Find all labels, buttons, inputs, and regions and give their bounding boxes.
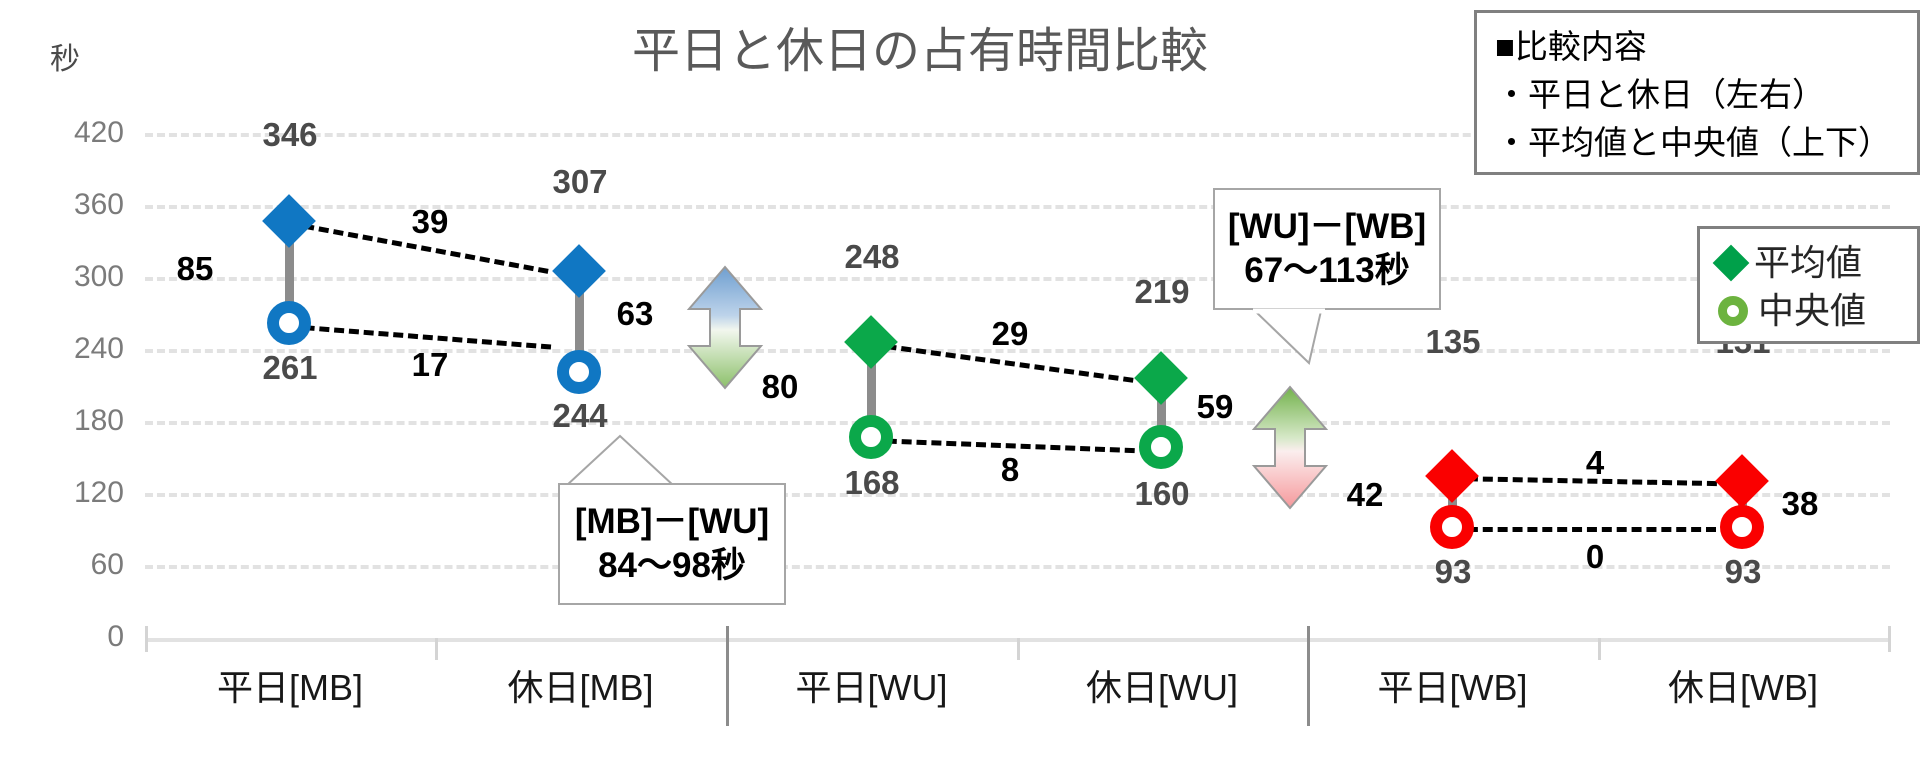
value-label-median-mb-holiday: 244: [480, 399, 680, 432]
info-box-line-2: ・平均値と中央値（上下）: [1495, 119, 1899, 167]
value-label-median-mb-weekday: 261: [190, 351, 390, 384]
delta-label-mb-median: 17: [385, 348, 475, 381]
x-category-5: 休日[WB]: [1598, 668, 1888, 708]
legend-label-mean: 平均値: [1754, 243, 1862, 283]
x-category-4: 平日[WB]: [1307, 668, 1598, 708]
x-tick-start: [145, 626, 148, 652]
connector-wb-median: [1453, 527, 1716, 532]
delta-label-wu-mean: 29: [965, 317, 1055, 350]
y-tick-420: 420: [28, 118, 124, 148]
legend-box: 平均値 中央値: [1697, 226, 1920, 344]
mean-marker-mb-holiday[interactable]: [552, 244, 606, 298]
y-tick-0: 0: [28, 622, 124, 652]
value-label-mean-mb-holiday: 307: [480, 165, 680, 198]
callout-wu-wb-line1: [WU]－[WB]: [1215, 208, 1439, 246]
callout-tail-wu-wb: [1213, 307, 1473, 367]
delta-label-wu-median: 8: [965, 453, 1055, 486]
x-tick-5: [1598, 638, 1601, 660]
gridline-180: [145, 421, 1890, 425]
value-label-mean-wu-weekday: 248: [772, 240, 972, 273]
y-tick-240: 240: [28, 334, 124, 364]
gap-label-wu-holiday: 59: [1170, 390, 1260, 423]
comparison-arrow-wu-wb-icon: [1250, 385, 1330, 510]
median-marker-mb-weekday[interactable]: [267, 301, 311, 345]
median-marker-mb-holiday[interactable]: [557, 350, 601, 394]
gap-label-wb-holiday: 38: [1755, 487, 1845, 520]
median-marker-wb-weekday[interactable]: [1430, 505, 1474, 549]
value-label-median-wu-holiday: 160: [1062, 477, 1262, 510]
callout-wu-wb-line2: 67～113秒: [1215, 252, 1439, 290]
value-label-median-wb-weekday: 93: [1353, 555, 1553, 588]
callout-mb-wu: [MB]－[WU] 84～98秒: [558, 483, 786, 605]
y-tick-360: 360: [28, 190, 124, 220]
circle-icon: [1718, 296, 1748, 326]
y-axis-unit: 秒: [50, 45, 80, 75]
x-tick-3: [1017, 638, 1020, 660]
value-label-mean-mb-weekday: 346: [190, 118, 390, 151]
y-tick-120: 120: [28, 478, 124, 508]
y-tick-180: 180: [28, 406, 124, 436]
median-marker-wu-weekday[interactable]: [849, 415, 893, 459]
x-category-1: 休日[MB]: [435, 668, 726, 708]
delta-label-wb-median: 0: [1550, 540, 1640, 573]
comparison-arrow-mb-wu-icon: [685, 265, 765, 390]
chart-canvas: 秒 420 360 300 240 180 120 60 0 平日[MB] 休日…: [0, 0, 1920, 759]
callout-mb-wu-line1: [MB]－[WU]: [560, 503, 784, 541]
comparison-info-box: ■比較内容 ・平日と休日（左右） ・平均値と中央値（上下）: [1474, 10, 1920, 175]
x-tick-1: [435, 638, 438, 660]
page-title: 平日と休日の占有時間比較: [520, 25, 1320, 79]
y-tick-60: 60: [28, 550, 124, 580]
gap-label-mb-holiday: 63: [590, 297, 680, 330]
info-box-line-1: ・平日と休日（左右）: [1495, 71, 1899, 119]
legend-label-median: 中央値: [1758, 291, 1866, 331]
mean-marker-mb-weekday[interactable]: [262, 194, 316, 248]
mean-marker-wu-weekday[interactable]: [844, 315, 898, 369]
x-category-2: 平日[WU]: [726, 668, 1017, 708]
diamond-icon: [1713, 245, 1750, 282]
x-category-3: 休日[WU]: [1017, 668, 1307, 708]
median-marker-wu-holiday[interactable]: [1139, 425, 1183, 469]
gridline-120: [145, 493, 1890, 497]
gap-label-mb-weekday: 85: [150, 252, 240, 285]
gap-label-wb-weekday: 42: [1320, 478, 1410, 511]
legend-item-mean[interactable]: 平均値: [1718, 243, 1862, 283]
callout-wu-wb: [WU]－[WB] 67～113秒: [1213, 188, 1441, 310]
delta-label-wb-mean: 4: [1550, 446, 1640, 479]
info-box-heading: ■比較内容: [1495, 23, 1899, 71]
legend-item-median[interactable]: 中央値: [1718, 291, 1866, 331]
x-tick-end: [1888, 626, 1891, 652]
value-label-median-wb-holiday: 93: [1643, 555, 1843, 588]
x-category-0: 平日[MB]: [145, 668, 435, 708]
callout-tail-mb-wu: [558, 430, 818, 490]
delta-label-mb-mean: 39: [385, 205, 475, 238]
y-tick-300: 300: [28, 262, 124, 292]
gridline-300: [145, 277, 1890, 281]
callout-mb-wu-line2: 84～98秒: [560, 547, 784, 585]
